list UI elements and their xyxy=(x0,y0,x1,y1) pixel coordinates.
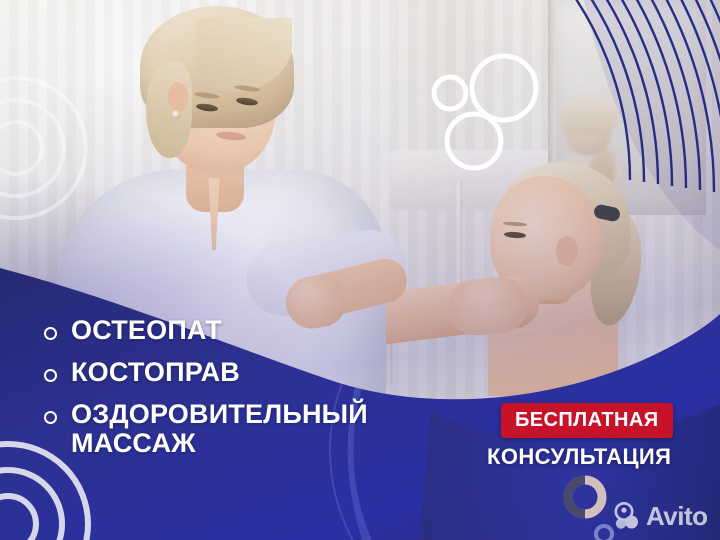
badge-label: БЕСПЛАТНАЯ xyxy=(515,410,659,430)
service-label: КОСТОПРАВ xyxy=(71,358,240,387)
consultation-subtitle: КОНСУЛЬТАЦИЯ xyxy=(487,444,671,470)
service-label: ОСТЕОПАТ xyxy=(71,316,222,345)
avito-wordmark: Avito xyxy=(646,501,708,532)
free-consultation-badge: БЕСПЛАТНАЯ xyxy=(501,403,673,438)
list-item: ОЗДОРОВИТЕЛЬНЫЙ МАССАЖ xyxy=(44,400,444,458)
service-label: ОЗДОРОВИТЕЛЬНЫЙ МАССАЖ xyxy=(71,400,444,458)
circle-outline-bullet-icon xyxy=(44,327,57,340)
avito-person-icon xyxy=(612,502,642,532)
circle-outline-bullet-icon xyxy=(44,369,57,382)
avito-watermark: Avito xyxy=(612,501,708,532)
list-item: ОСТЕОПАТ xyxy=(44,316,444,345)
advertisement-banner: ОСТЕОПАТ КОСТОПРАВ ОЗДОРОВИТЕЛЬНЫЙ МАССА… xyxy=(0,0,720,540)
list-item: КОСТОПРАВ xyxy=(44,358,444,387)
circle-outline-bullet-icon xyxy=(44,411,57,424)
services-list: ОСТЕОПАТ КОСТОПРАВ ОЗДОРОВИТЕЛЬНЫЙ МАССА… xyxy=(44,316,444,471)
